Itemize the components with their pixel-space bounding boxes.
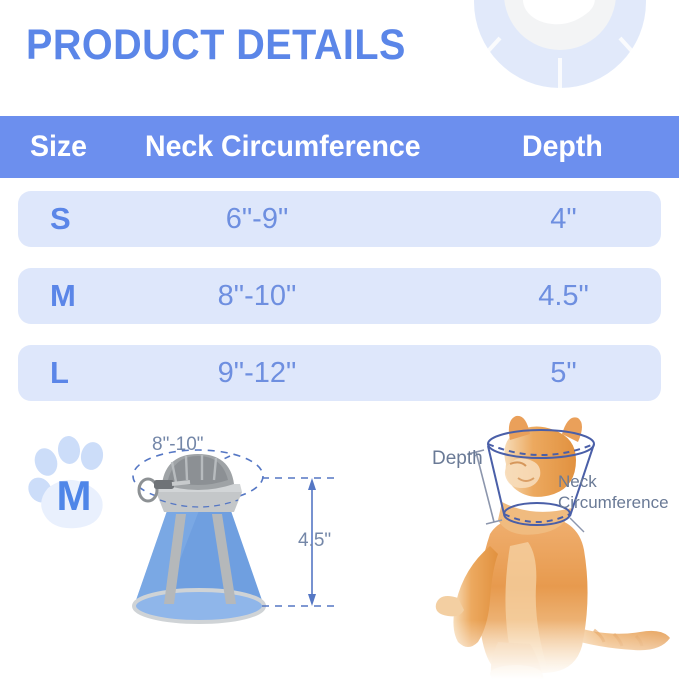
cone-top-view-decoration [466,0,654,120]
circumference-label-line1: Neck [558,471,669,492]
cone-outline-overlay [398,406,679,679]
cat-measurement-diagram: Depth Neck Circumference [398,406,679,679]
table-row: M 8"-10" 4.5" [18,268,661,324]
cell-depth: 4" [466,191,661,247]
cell-neck: 8"-10" [18,268,496,324]
paw-badge-size-letter: M [57,472,92,519]
cat-depth-label: Depth [432,448,483,470]
cell-neck: 6"-9" [18,191,496,247]
product-details-infographic: PRODUCT DETAILS Size Neck Circumference … [0,0,679,679]
table-row: S 6"-9" 4" [18,191,661,247]
neck-dimension-label: 8"-10" [152,434,204,456]
column-header-size: Size [30,116,87,178]
paw-print-icon: M [22,430,126,534]
column-header-neck: Neck Circumference [145,116,421,178]
column-header-depth: Depth [522,116,603,178]
cell-depth: 5" [466,345,661,401]
product-measurement-diagram: M [0,412,360,679]
table-row: L 9"-12" 5" [18,345,661,401]
page-title: PRODUCT DETAILS [26,24,406,67]
cell-depth: 4.5" [466,268,661,324]
table-header-row: Size Neck Circumference Depth [0,116,679,178]
cat-neck-circumference-label: Neck Circumference [558,471,669,514]
cell-neck: 9"-12" [18,345,496,401]
circumference-label-line2: Circumference [558,492,669,513]
depth-dimension-label: 4.5" [298,530,331,552]
